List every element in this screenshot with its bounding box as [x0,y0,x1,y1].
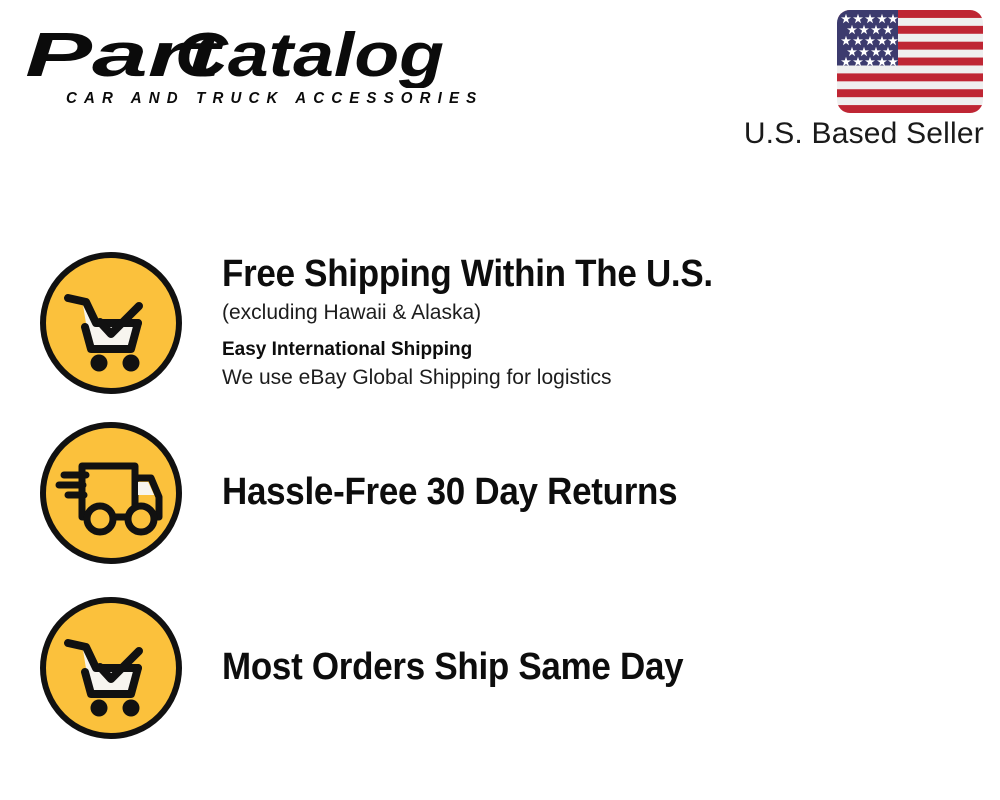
brand-tagline: CAR AND TRUCK ACCESSORIES [66,90,466,108]
feature-icon-container [0,420,222,566]
feature-row: Most Orders Ship Same Day [0,595,1000,740]
feature-subtitle: (excluding Hawaii & Alaska) [222,299,982,327]
feature-title: Hassle-Free 30 Day Returns [222,472,921,513]
feature-row: Hassle-Free 30 Day Returns [0,420,1000,565]
svg-text:Catalog: Catalog [175,26,444,88]
feature-subtitle-strong: Easy International Shipping [222,338,982,363]
us-based-seller-label: U.S. Based Seller [744,117,984,151]
feature-title: Free Shipping Within The U.S. [222,254,921,295]
feature-icon-container [0,595,222,741]
seller-banner: Part Catalog CAR AND TRUCK ACCESSORIES [0,0,1000,800]
shopping-cart-check-icon [38,250,184,396]
feature-text-container: Most Orders Ship Same Day [222,647,1000,688]
feature-text-container: Free Shipping Within The U.S. (excluding… [222,254,1000,392]
brand-wordmark: Part Catalog [22,26,488,88]
feature-title: Most Orders Ship Same Day [222,647,921,688]
us-flag-graphic [837,10,983,113]
banner-header: Part Catalog CAR AND TRUCK ACCESSORIES [0,0,1000,170]
shopping-cart-check-icon [38,595,184,741]
us-flag-icon [837,10,983,113]
feature-row: Free Shipping Within The U.S. (excluding… [0,240,1000,405]
feature-icon-container [0,250,222,396]
feature-subtitle-detail: We use eBay Global Shipping for logistic… [222,364,982,391]
delivery-truck-icon [38,420,184,566]
brand-logo: Part Catalog CAR AND TRUCK ACCESSORIES [22,26,492,108]
feature-text-container: Hassle-Free 30 Day Returns [222,472,1000,513]
